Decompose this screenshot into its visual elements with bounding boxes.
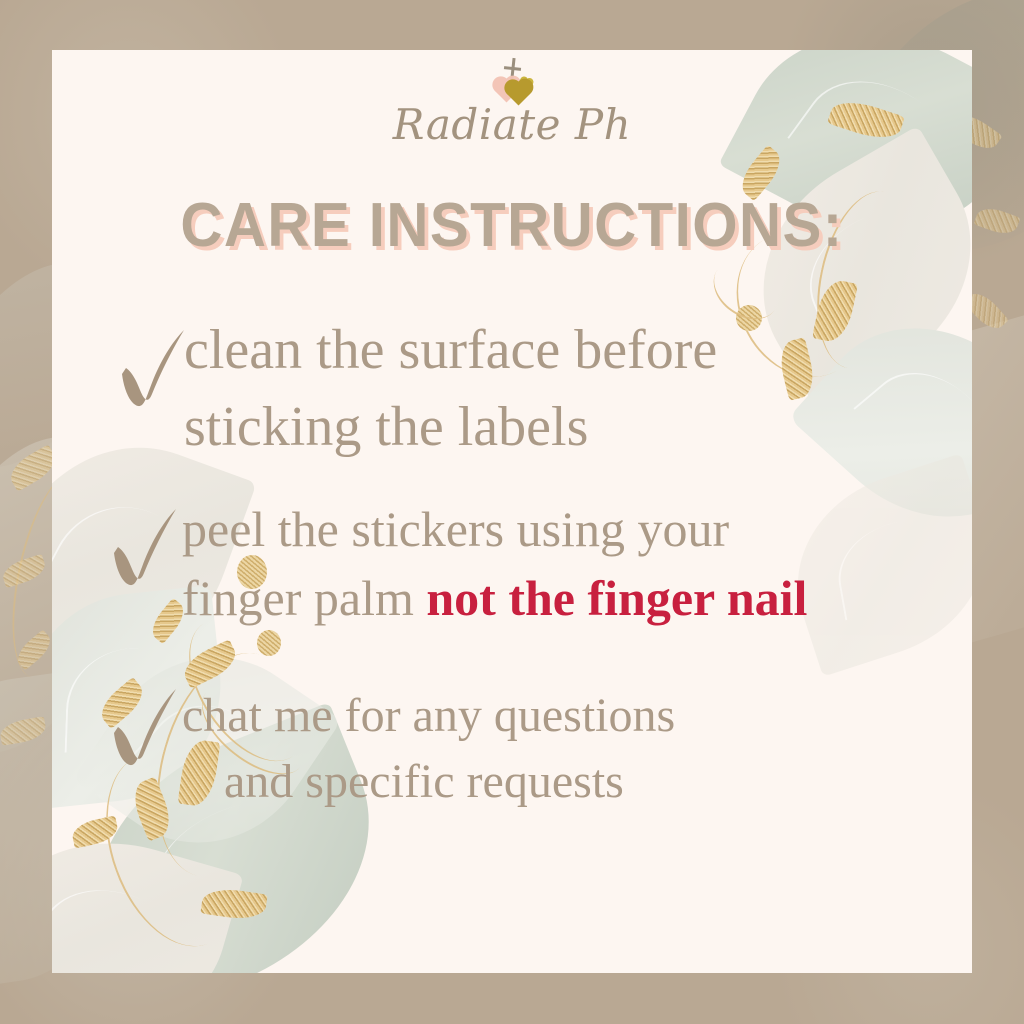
gold-sprig-icon [200,886,267,923]
checkmark-icon [112,328,190,420]
list-item-line-prefix: finger palm [182,570,426,626]
gold-sprig-icon [0,716,48,746]
list-item-text: chat me for any questions and specific r… [182,683,972,815]
list-item: chat me for any questions and specific r… [52,683,972,815]
list-item-line: peel the stickers using your [182,495,972,564]
leaf-icon [52,812,244,973]
cross-with-hearts-icon [482,58,542,106]
poster-canvas: Radiate Ph CARE INSTRUCTIONS: clean the … [0,0,1024,1024]
page-title: CARE INSTRUCTIONS: [80,190,945,261]
brand-name: Radiate Ph [52,104,972,146]
brand-logo: Radiate Ph [52,58,972,146]
list-item-line: clean the surface before [184,312,972,389]
gold-sprig-icon [70,815,120,848]
list-item: clean the surface before sticking the la… [52,312,972,467]
gold-sprig-icon [12,629,55,670]
leaf-vein [52,867,191,973]
checkmark-icon [104,687,182,779]
list-item: peel the stickers using your finger palm… [52,495,972,633]
list-item-line: and specific requests [182,749,972,815]
list-item-line: finger palm not the finger nail [182,564,972,633]
list-item-text: clean the surface before sticking the la… [184,312,972,467]
heart-gold-icon [506,81,530,105]
list-item-line: sticking the labels [184,389,972,466]
checkmark-icon [104,507,182,599]
highlighted-warning-text: not the finger nail [426,570,807,626]
list-item-text: peel the stickers using your finger palm… [182,495,972,633]
instruction-list: clean the surface before sticking the la… [52,312,972,815]
gold-sprig-icon [974,203,1021,238]
gold-sprig-icon [0,554,48,589]
list-item-line: chat me for any questions [182,683,972,749]
card-panel: Radiate Ph CARE INSTRUCTIONS: clean the … [52,50,972,973]
